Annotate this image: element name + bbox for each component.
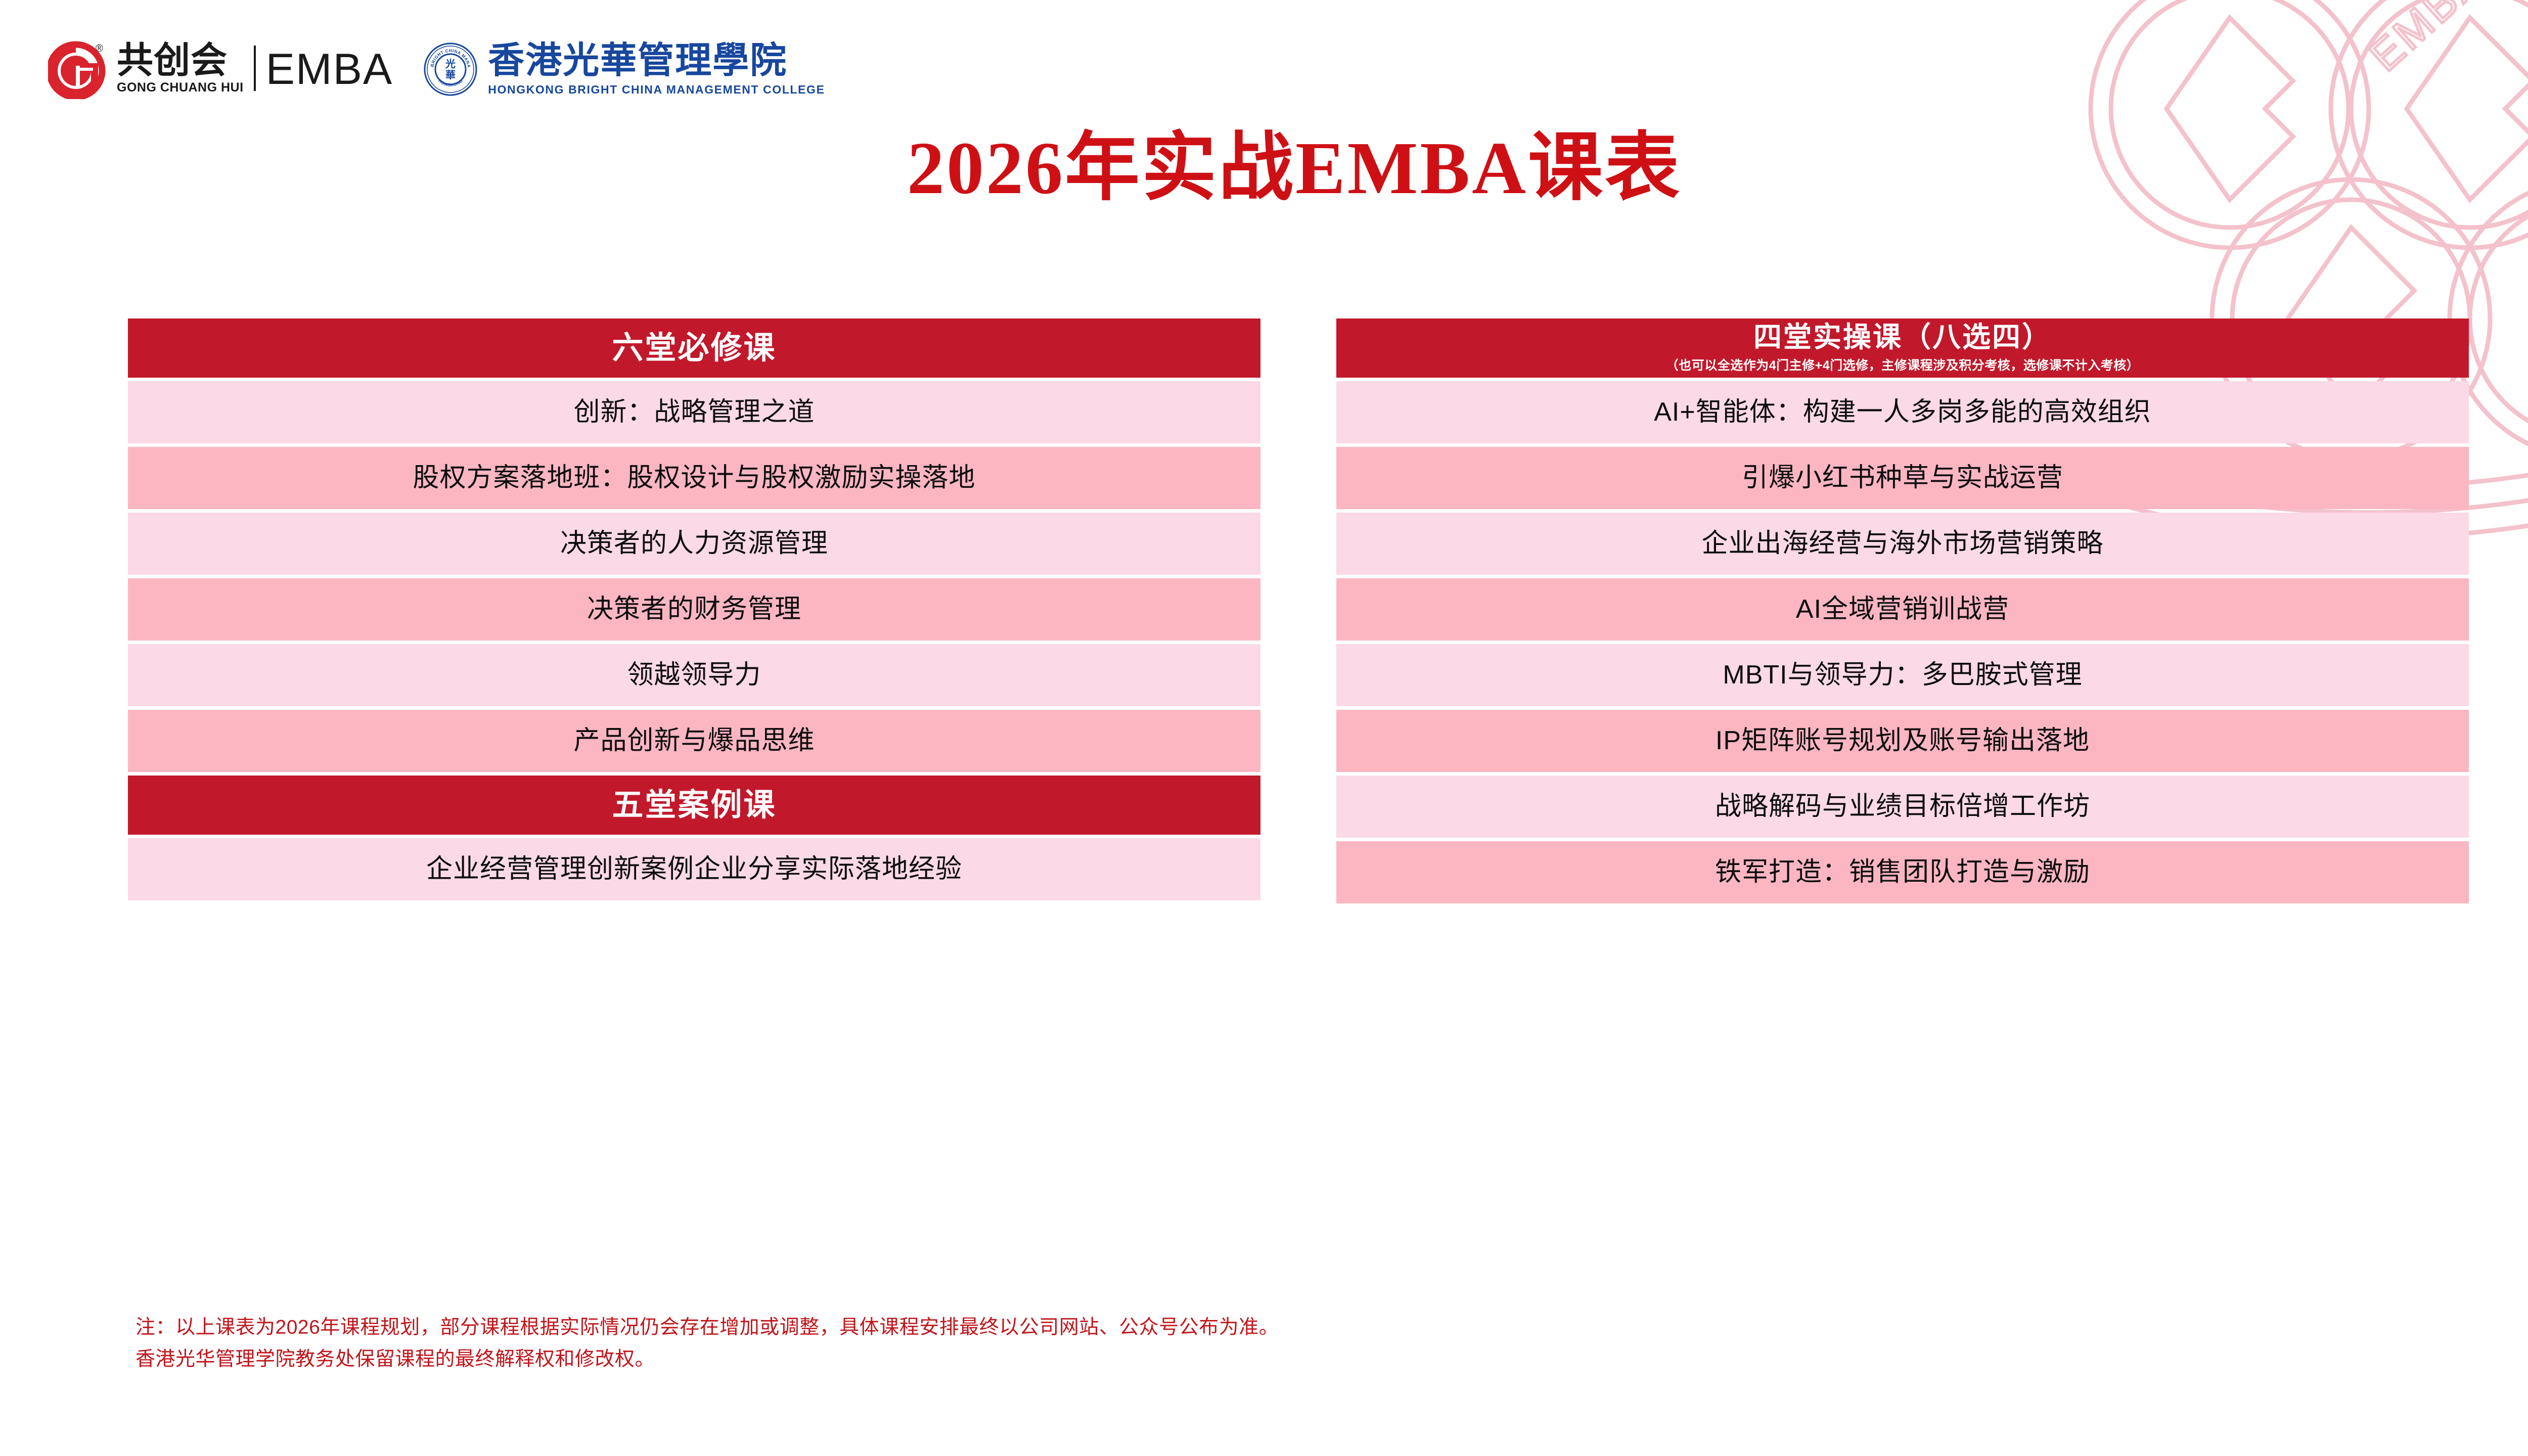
svg-text:EMBA: EMBA: [2360, 0, 2493, 80]
svg-text:華: 華: [445, 69, 456, 81]
course-row[interactable]: 引爆小红书种草与实战运营: [1336, 447, 2469, 509]
hongkong-college-logo: BRIGHT CHINA MANAGEMENT COLLEGE · HONGKO…: [423, 42, 825, 97]
section-header-case-studies: 五堂案例课: [128, 776, 1260, 835]
section-header-required: 六堂必修课: [128, 318, 1260, 378]
elective-courses-column: 四堂实操课（八选四） （也可以全选作为4门主修+4门选修，主修课程涉及积分考核，…: [1336, 318, 2469, 907]
gongchuanghui-logo: ® 共创会 GONG CHUANG HUI EMBA: [48, 39, 393, 99]
footnote-line-2: 香港光华管理学院教务处保留课程的最终解释权和修改权。: [136, 1343, 1279, 1375]
course-schedule-tables: 六堂必修课 创新：战略管理之道 股权方案落地班：股权设计与股权激励实操落地 决策…: [128, 318, 2469, 907]
course-row[interactable]: 铁军打造：销售团队打造与激励: [1336, 841, 2469, 903]
gongchuanghui-g-logo: ®: [48, 39, 108, 99]
hongkong-college-chinese-name: 香港光華管理學院: [488, 42, 825, 79]
page-title: 2026年实战EMBA课表: [0, 106, 2528, 215]
hongkong-bright-china-seal: BRIGHT CHINA MANAGEMENT COLLEGE · HONGKO…: [423, 42, 478, 97]
course-row[interactable]: 产品创新与爆品思维: [128, 710, 1260, 772]
course-row[interactable]: 决策者的人力资源管理: [128, 513, 1260, 575]
section-header-required-label: 六堂必修课: [612, 332, 776, 365]
gongchuanghui-pinyin: GONG CHUANG HUI: [117, 80, 244, 95]
course-row[interactable]: 企业出海经营与海外市场营销策略: [1336, 513, 2469, 575]
logo-bar: ® 共创会 GONG CHUANG HUI EMBA BRIGHT CHINA …: [48, 39, 825, 99]
course-row[interactable]: 领越领导力: [128, 644, 1260, 706]
course-row[interactable]: 战略解码与业绩目标倍增工作坊: [1336, 776, 2469, 838]
footnote-line-1: 注：以上课表为2026年课程规划，部分课程根据实际情况仍会存在增加或调整，具体课…: [136, 1311, 1279, 1343]
course-row[interactable]: 决策者的财务管理: [128, 578, 1260, 641]
svg-text:光: 光: [445, 58, 456, 70]
gongchuanghui-program-label: EMBA: [266, 43, 393, 95]
course-row[interactable]: AI+智能体：构建一人多岗多能的高效组织: [1336, 381, 2469, 443]
svg-text:®: ®: [96, 43, 103, 54]
section-header-practical-label: 四堂实操课（八选四）: [1753, 323, 2052, 352]
course-row[interactable]: AI全域营销训战营: [1336, 578, 2469, 641]
required-courses-column: 六堂必修课 创新：战略管理之道 股权方案落地班：股权设计与股权激励实操落地 决策…: [128, 318, 1260, 907]
course-row[interactable]: 企业经营管理创新案例企业分享实际落地经验: [128, 838, 1260, 900]
logo-divider: [254, 45, 256, 91]
course-row[interactable]: IP矩阵账号规划及账号输出落地: [1336, 710, 2469, 772]
course-row[interactable]: MBTI与领导力：多巴胺式管理: [1336, 644, 2469, 706]
footnote: 注：以上课表为2026年课程规划，部分课程根据实际情况仍会存在增加或调整，具体课…: [136, 1311, 1279, 1375]
watermark-emba-label: EMBA: [2360, 0, 2493, 80]
section-header-practical-subtitle: （也可以全选作为4门主修+4门选修，主修课程涉及积分考核，选修课不计入考核）: [1666, 355, 2139, 374]
course-row[interactable]: 股权方案落地班：股权设计与股权激励实操落地: [128, 447, 1260, 509]
section-header-practical: 四堂实操课（八选四） （也可以全选作为4门主修+4门选修，主修课程涉及积分考核，…: [1336, 318, 2469, 378]
section-header-case-studies-label: 五堂案例课: [612, 789, 776, 822]
course-row[interactable]: 创新：战略管理之道: [128, 381, 1260, 443]
gongchuanghui-chinese-name: 共创会: [117, 43, 244, 78]
hongkong-college-english-name: HONGKONG BRIGHT CHINA MANAGEMENT COLLEGE: [488, 83, 825, 97]
